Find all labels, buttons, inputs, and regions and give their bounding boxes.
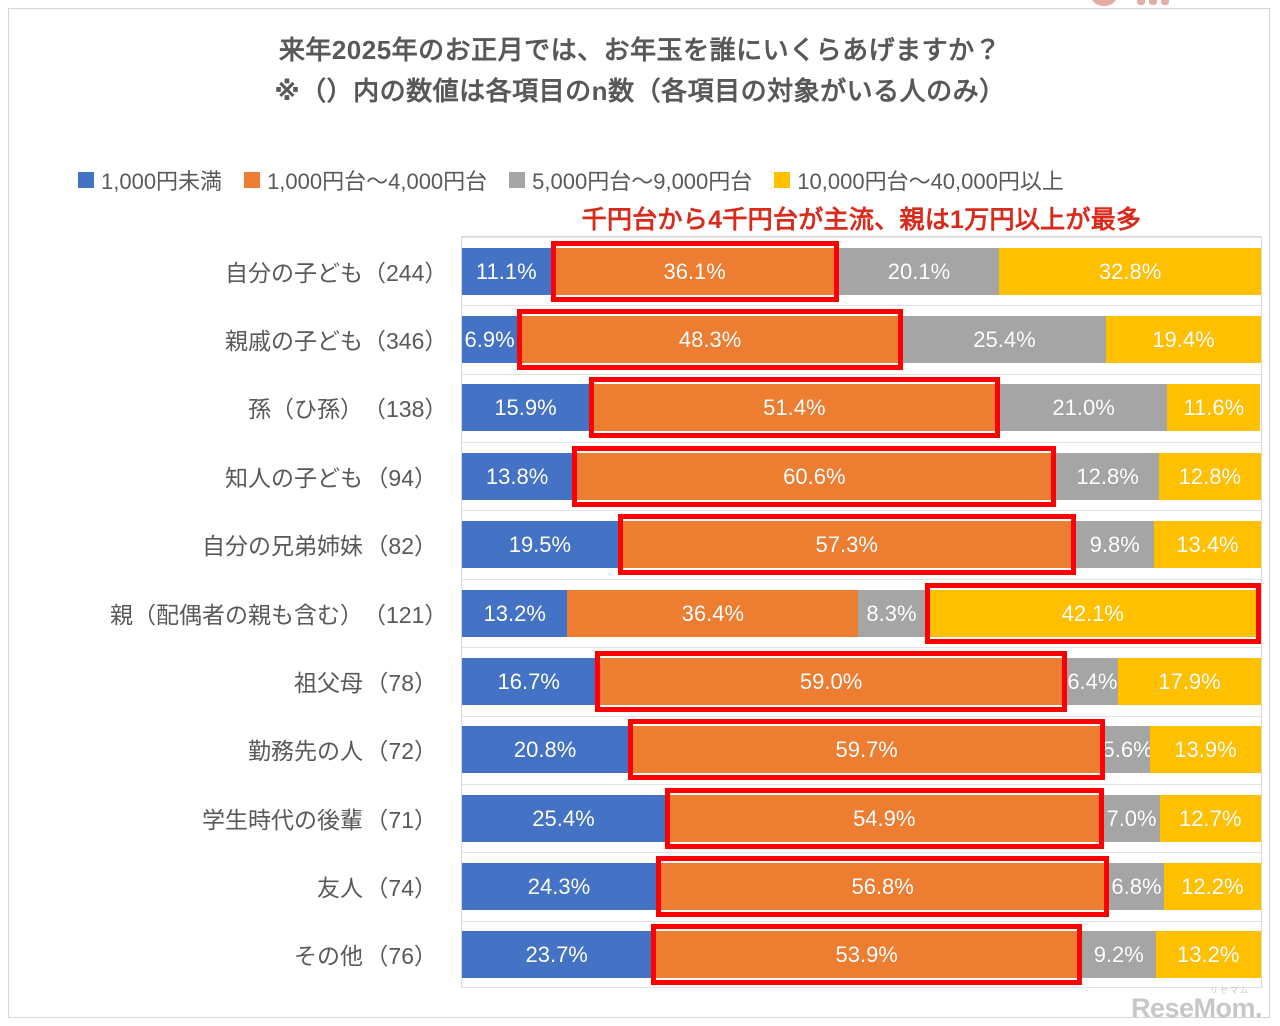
- category-label: その他: [294, 937, 363, 971]
- category-sample-size: （94）: [363, 459, 455, 493]
- gridline: [462, 374, 1261, 375]
- bar-value-label: 32.8%: [1099, 259, 1161, 285]
- category-label-row: 学生時代の後輩（71）: [0, 794, 455, 841]
- gridline: [462, 305, 1261, 306]
- bar-value-label: 6.9%: [464, 327, 514, 353]
- bar-value-label: 51.4%: [763, 395, 825, 421]
- category-sample-size: （76）: [363, 937, 455, 971]
- category-axis: 自分の子ども（244）親戚の子ども（346）孫（ひ孫）（138）知人の子ども（9…: [0, 236, 455, 988]
- bar-value-label: 13.4%: [1176, 532, 1238, 558]
- legend-label: 1,000円台～4,000円台: [267, 164, 487, 196]
- gridline: [462, 921, 1261, 922]
- category-label-row: 自分の兄弟姉妹（82）: [0, 520, 455, 567]
- legend-label: 5,000円台～9,000円台: [532, 164, 752, 196]
- category-sample-size: （74）: [363, 869, 455, 903]
- bar-value-label: 56.8%: [851, 874, 913, 900]
- bar-segment[interactable]: 60.6%: [572, 453, 1056, 500]
- bar-value-label: 12.2%: [1181, 874, 1243, 900]
- bar-value-label: 54.9%: [853, 806, 915, 832]
- bar-value-label: 15.9%: [494, 395, 556, 421]
- bar-value-label: 25.4%: [973, 327, 1035, 353]
- bar-value-label: 6.4%: [1067, 669, 1117, 695]
- category-sample-size: （71）: [363, 801, 455, 835]
- bar-value-label: 59.7%: [835, 737, 897, 763]
- category-label: 祖父母: [294, 664, 363, 698]
- bar-value-label: 36.1%: [663, 259, 725, 285]
- bar-value-label: 25.4%: [532, 806, 594, 832]
- category-label: 友人: [317, 869, 363, 903]
- bar-value-label: 7.0%: [1106, 806, 1156, 832]
- bar-segment[interactable]: 32.8%: [999, 248, 1261, 295]
- legend-item-3[interactable]: 10,000円台～40,000円以上: [774, 164, 1064, 196]
- bar-value-label: 36.4%: [682, 601, 744, 627]
- bar-segment[interactable]: 25.4%: [462, 795, 665, 842]
- bar-value-label: 12.8%: [1076, 464, 1138, 490]
- category-label: 学生時代の後輩: [202, 801, 363, 835]
- bar-value-label: 12.8%: [1179, 464, 1241, 490]
- bar-segment[interactable]: 51.4%: [589, 384, 1000, 431]
- chart-title: 来年2025年のお正月では、お年玉を誰にいくらあげますか？: [0, 30, 1280, 71]
- legend-swatch-icon: [78, 172, 94, 188]
- category-sample-size: （82）: [363, 527, 455, 561]
- bar-segment[interactable]: 36.4%: [567, 590, 858, 637]
- bar-value-label: 11.6%: [1183, 395, 1244, 421]
- bar-row: 24.3%56.8%6.8%12.2%: [462, 863, 1261, 910]
- watermark-name: ReseMom.: [1131, 993, 1262, 1023]
- category-label: 勤務先の人: [248, 732, 363, 766]
- category-label-row: 知人の子ども（94）: [0, 452, 455, 499]
- bar-segment[interactable]: 24.3%: [462, 863, 656, 910]
- bar-segment[interactable]: 6.4%: [1067, 658, 1118, 705]
- bar-segment[interactable]: 59.7%: [628, 726, 1105, 773]
- gridline: [462, 716, 1261, 717]
- bar-segment[interactable]: 13.4%: [1154, 521, 1261, 568]
- category-label: 孫（ひ孫）: [248, 390, 363, 424]
- bar-value-label: 5.6%: [1102, 737, 1152, 763]
- bar-value-label: 11.1%: [476, 259, 537, 285]
- category-label: 自分の兄弟姉妹: [202, 527, 363, 561]
- bar-row: 6.9%48.3%25.4%19.4%: [462, 316, 1261, 363]
- bar-row: 23.7%53.9%9.2%13.2%: [462, 931, 1261, 978]
- bar-segment[interactable]: 11.1%: [462, 248, 551, 295]
- category-label: 自分の子ども: [225, 254, 363, 288]
- bar-value-label: 16.7%: [498, 669, 560, 695]
- bar-segment[interactable]: 57.3%: [618, 521, 1076, 568]
- bar-row: 13.2%36.4%8.3%42.1%: [462, 590, 1261, 637]
- gridline: [462, 579, 1261, 580]
- bar-value-label: 42.1%: [1062, 601, 1124, 627]
- legend-swatch-icon: [509, 172, 525, 188]
- bar-segment[interactable]: 16.7%: [462, 658, 595, 705]
- gridline: [462, 510, 1261, 511]
- bar-segment[interactable]: 6.9%: [462, 316, 517, 363]
- bar-value-label: 19.4%: [1152, 327, 1214, 353]
- bar-value-label: 60.6%: [783, 464, 845, 490]
- bar-segment[interactable]: 19.5%: [462, 521, 618, 568]
- bar-value-label: 9.2%: [1094, 942, 1144, 968]
- category-sample-size: （121）: [363, 596, 455, 630]
- bar-segment[interactable]: 13.2%: [462, 590, 567, 637]
- bar-row: 16.7%59.0%6.4%17.9%: [462, 658, 1261, 705]
- bar-value-label: 6.8%: [1111, 874, 1161, 900]
- bar-segment[interactable]: 6.8%: [1109, 863, 1163, 910]
- chart-annotation-headline: 千円台から4千円台が主流、親は1万円以上が最多: [461, 200, 1262, 236]
- bar-segment[interactable]: 19.4%: [1106, 316, 1261, 363]
- bar-segment[interactable]: 15.9%: [462, 384, 589, 431]
- bar-value-label: 13.9%: [1174, 737, 1236, 763]
- bar-value-label: 8.3%: [866, 601, 916, 627]
- category-sample-size: （78）: [363, 664, 455, 698]
- category-label-row: 友人（74）: [0, 862, 455, 909]
- bar-value-label: 20.1%: [888, 259, 950, 285]
- bar-value-label: 13.2%: [484, 601, 546, 627]
- bar-segment[interactable]: 7.0%: [1104, 795, 1160, 842]
- bar-segment[interactable]: 36.1%: [551, 248, 839, 295]
- bar-value-label: 20.8%: [514, 737, 576, 763]
- category-label: 親（配偶者の親も含む）: [110, 596, 363, 630]
- gridline: [462, 237, 1261, 238]
- watermark: リセマム ReseMom.: [1131, 986, 1262, 1022]
- gridline: [462, 647, 1261, 648]
- legend-swatch-icon: [774, 172, 790, 188]
- category-sample-size: （72）: [363, 732, 455, 766]
- bar-value-label: 13.2%: [1177, 942, 1239, 968]
- bar-value-label: 21.0%: [1052, 395, 1114, 421]
- legend-item-2[interactable]: 5,000円台～9,000円台: [509, 164, 752, 196]
- bar-value-label: 48.3%: [679, 327, 741, 353]
- bar-row: 20.8%59.7%5.6%13.9%: [462, 726, 1261, 773]
- bar-segment[interactable]: 11.6%: [1167, 384, 1260, 431]
- bar-segment[interactable]: 59.0%: [595, 658, 1066, 705]
- bar-segment[interactable]: 42.1%: [925, 590, 1261, 637]
- bar-segment[interactable]: 9.8%: [1076, 521, 1154, 568]
- bar-segment[interactable]: 54.9%: [665, 795, 1104, 842]
- bar-value-label: 59.0%: [800, 669, 862, 695]
- bar-segment[interactable]: 12.8%: [1056, 453, 1158, 500]
- category-label-row: 孫（ひ孫）（138）: [0, 383, 455, 430]
- gridline: [462, 442, 1261, 443]
- bar-value-label: 23.7%: [525, 942, 587, 968]
- bar-value-label: 13.8%: [486, 464, 548, 490]
- bar-segment[interactable]: 53.9%: [651, 931, 1082, 978]
- chart-page: 来年2025年のお正月では、お年玉を誰にいくらあげますか？ ※（）内の数値は各項…: [0, 0, 1280, 1026]
- bar-segment[interactable]: 12.2%: [1164, 863, 1261, 910]
- bar-segment[interactable]: 48.3%: [517, 316, 903, 363]
- bar-segment[interactable]: 13.2%: [1156, 931, 1261, 978]
- bar-segment[interactable]: 12.7%: [1160, 795, 1261, 842]
- bar-segment[interactable]: 13.8%: [462, 453, 572, 500]
- bar-segment[interactable]: 13.9%: [1150, 726, 1261, 773]
- bar-segment[interactable]: 21.0%: [1000, 384, 1168, 431]
- bar-segment[interactable]: 17.9%: [1118, 658, 1261, 705]
- plot-area: 11.1%36.1%20.1%32.8%6.9%48.3%25.4%19.4%1…: [461, 236, 1262, 988]
- chart-legend: 1,000円未満1,000円台～4,000円台5,000円台～9,000円台10…: [78, 164, 1228, 196]
- bar-row: 25.4%54.9%7.0%12.7%: [462, 795, 1261, 842]
- bar-segment[interactable]: 12.8%: [1159, 453, 1261, 500]
- bar-segment[interactable]: 20.1%: [839, 248, 999, 295]
- bar-value-label: 17.9%: [1158, 669, 1220, 695]
- legend-label: 10,000円台～40,000円以上: [797, 164, 1064, 196]
- bar-value-label: 24.3%: [528, 874, 590, 900]
- chart-subtitle: ※（）内の数値は各項目のn数（各項目の対象がいる人のみ）: [0, 71, 1280, 112]
- gridline: [462, 784, 1261, 785]
- category-sample-size: （346）: [363, 322, 455, 356]
- bar-value-label: 19.5%: [509, 532, 571, 558]
- bar-row: 11.1%36.1%20.1%32.8%: [462, 248, 1261, 295]
- bar-segment[interactable]: 23.7%: [462, 931, 651, 978]
- bar-segment[interactable]: 20.8%: [462, 726, 628, 773]
- gridline: [462, 852, 1261, 853]
- category-label-row: 勤務先の人（72）: [0, 725, 455, 772]
- category-sample-size: （138）: [363, 390, 455, 424]
- bar-value-label: 12.7%: [1179, 806, 1241, 832]
- category-label-row: 親（配偶者の親も含む）（121）: [0, 589, 455, 636]
- category-label-row: 自分の子ども（244）: [0, 247, 455, 294]
- legend-item-1[interactable]: 1,000円台～4,000円台: [244, 164, 487, 196]
- category-label: 知人の子ども: [225, 459, 363, 493]
- bar-segment[interactable]: 8.3%: [858, 590, 924, 637]
- category-label-row: 祖父母（78）: [0, 657, 455, 704]
- bar-row: 13.8%60.6%12.8%12.8%: [462, 453, 1261, 500]
- chart-title-block: 来年2025年のお正月では、お年玉を誰にいくらあげますか？ ※（）内の数値は各項…: [0, 30, 1280, 112]
- category-label-row: 親戚の子ども（346）: [0, 315, 455, 362]
- bar-segment[interactable]: 9.2%: [1082, 931, 1156, 978]
- partial-logo-top: [1085, 0, 1195, 7]
- bar-row: 15.9%51.4%21.0%11.6%: [462, 384, 1261, 431]
- bar-segment[interactable]: 5.6%: [1105, 726, 1150, 773]
- bar-segment[interactable]: 56.8%: [656, 863, 1109, 910]
- category-sample-size: （244）: [363, 254, 455, 288]
- category-label: 親戚の子ども: [225, 322, 363, 356]
- category-label-row: その他（76）: [0, 930, 455, 977]
- legend-label: 1,000円未満: [101, 164, 222, 196]
- legend-swatch-icon: [244, 172, 260, 188]
- bar-value-label: 57.3%: [816, 532, 878, 558]
- bar-row: 19.5%57.3%9.8%13.4%: [462, 521, 1261, 568]
- legend-item-0[interactable]: 1,000円未満: [78, 164, 222, 196]
- bar-segment[interactable]: 25.4%: [903, 316, 1106, 363]
- bar-value-label: 9.8%: [1090, 532, 1140, 558]
- bar-value-label: 53.9%: [835, 942, 897, 968]
